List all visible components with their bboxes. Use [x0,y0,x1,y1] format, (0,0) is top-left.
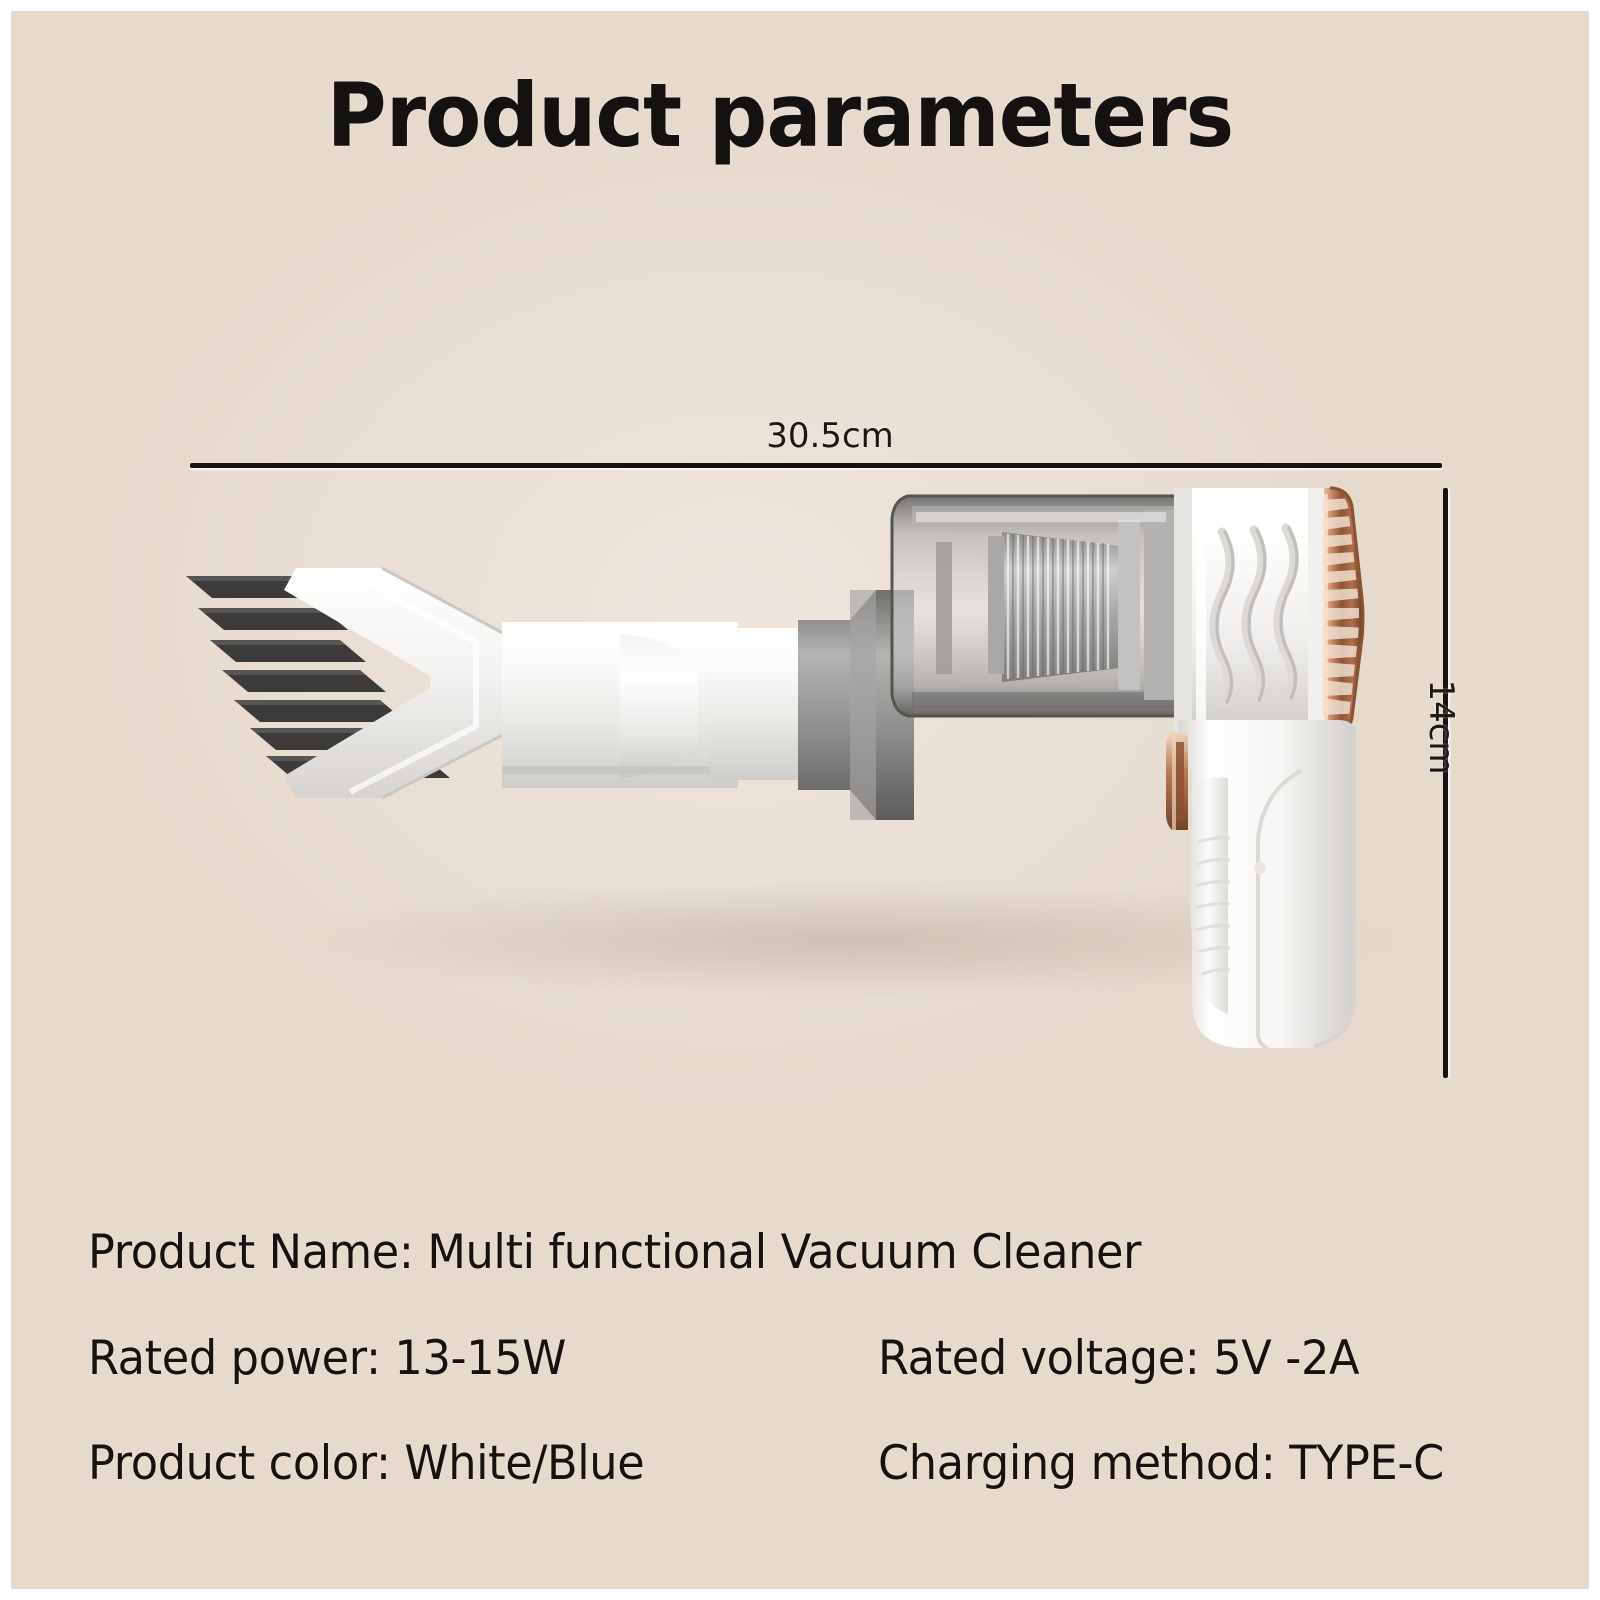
spec-row-power-voltage: Rated power: 13-15W Rated voltage: 5V -2… [88,1324,1518,1394]
copper-trigger-button [1166,732,1188,830]
handle-screw-dot [1254,862,1266,874]
spec-charging-method: Charging method: TYPE-C [878,1429,1486,1499]
spec-row-product-name: Product Name: Multi functional Vacuum Cl… [88,1218,1518,1288]
dust-cup-connector-ring [850,590,876,820]
product-parameters-page: Product parameters 30.5cm 14cm [0,0,1600,1600]
spec-product-name: Product Name: Multi functional Vacuum Cl… [88,1218,1447,1288]
filter-end-cap [1144,510,1174,700]
motor-housing-front-rib [1174,488,1192,736]
page-title: Product parameters [55,70,1506,162]
width-dimension-label: 30.5cm [640,416,1020,456]
product-image [150,470,1450,1090]
copper-exhaust-grille [1322,488,1372,736]
motor-housing-front-rib2 [1196,492,1206,732]
width-dimension-line [190,463,1442,468]
spec-row-color-charging: Product color: White/Blue Charging metho… [88,1429,1518,1499]
spec-rated-voltage: Rated voltage: 5V -2A [878,1324,1486,1394]
spec-product-color: Product color: White/Blue [88,1429,839,1499]
dust-cup-highlight [916,512,1166,522]
dust-cup-bottom-band [912,692,1174,708]
dust-cup-divider [936,542,952,674]
specifications-list: Product Name: Multi functional Vacuum Cl… [88,1218,1518,1499]
spec-rated-power: Rated power: 13-15W [88,1324,839,1394]
